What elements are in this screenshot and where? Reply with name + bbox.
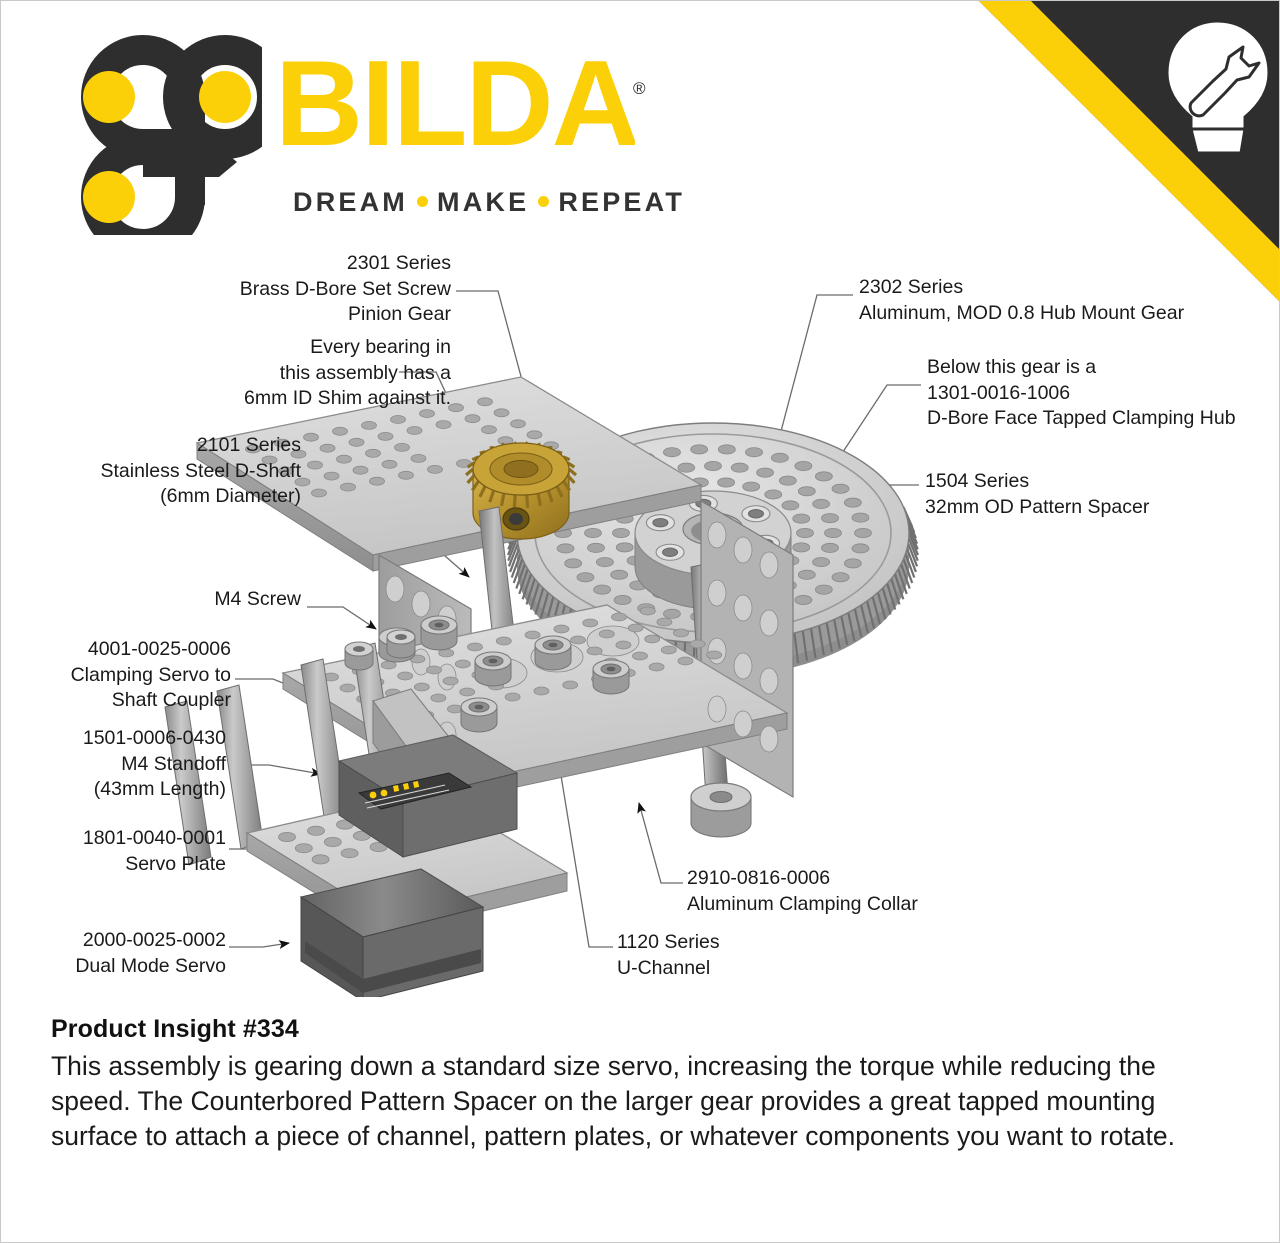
tagline-word-repeat: REPEAT	[558, 187, 685, 217]
callout-pattern-spacer: 1504 Series 32mm OD Pattern Spacer	[925, 469, 1255, 520]
caption-block: Product Insight #334 This assembly is ge…	[51, 1015, 1231, 1154]
callout-shaft-coupler: 4001-0025-0006 Clamping Servo to Shaft C…	[36, 637, 231, 714]
gobilda-logo: BILDA ® DREAMMAKEREPEAT	[47, 35, 627, 235]
lightbulb-wrench-icon	[1167, 21, 1269, 153]
product-insight-page: BILDA ® DREAMMAKEREPEAT	[0, 0, 1280, 1243]
gobilda-loop-logo-icon	[47, 35, 262, 240]
callout-servo-plate: 1801-0040-0001 Servo Plate	[21, 826, 226, 877]
ribbon-label: PRODUCT INSIGHTS	[990, 1, 1249, 256]
callout-d-shaft: 2101 Series Stainless Steel D-Shaft (6mm…	[41, 433, 301, 510]
caption-body: This assembly is gearing down a standard…	[51, 1049, 1231, 1154]
callout-clamping-hub: Below this gear is a 1301-0016-1006 D-Bo…	[927, 355, 1279, 432]
callout-dual-mode-servo: 2000-0025-0002 Dual Mode Servo	[31, 928, 226, 979]
brand-tagline: DREAMMAKEREPEAT	[293, 187, 685, 218]
callout-clamping-collar: 2910-0816-0006 Aluminum Clamping Collar	[687, 866, 1017, 917]
caption-title: Product Insight #334	[51, 1015, 1231, 1044]
callout-m4-screw: M4 Screw	[111, 587, 301, 613]
registered-trademark-symbol: ®	[633, 79, 646, 99]
tagline-dot-icon	[417, 196, 428, 207]
callout-m4-standoff: 1501-0006-0430 M4 Standoff (43mm Length)	[21, 726, 226, 803]
clamping-collar-part	[691, 783, 751, 837]
tagline-dot-icon	[538, 196, 549, 207]
callout-u-channel: 1120 Series U-Channel	[617, 930, 837, 981]
callout-bearing-shim: Every bearing in this assembly has a 6mm…	[121, 335, 451, 412]
svg-text:BILDA: BILDA	[275, 45, 635, 170]
tagline-word-make: MAKE	[437, 187, 529, 217]
assembly-diagram: 2301 Series Brass D-Bore Set Screw Pinio…	[1, 237, 1279, 997]
gobilda-wordmark: BILDA	[275, 45, 635, 175]
tagline-word-dream: DREAM	[293, 187, 408, 217]
callout-hub-mount-gear: 2302 Series Aluminum, MOD 0.8 Hub Mount …	[859, 275, 1259, 326]
callout-pinion-gear: 2301 Series Brass D-Bore Set Screw Pinio…	[121, 251, 451, 328]
